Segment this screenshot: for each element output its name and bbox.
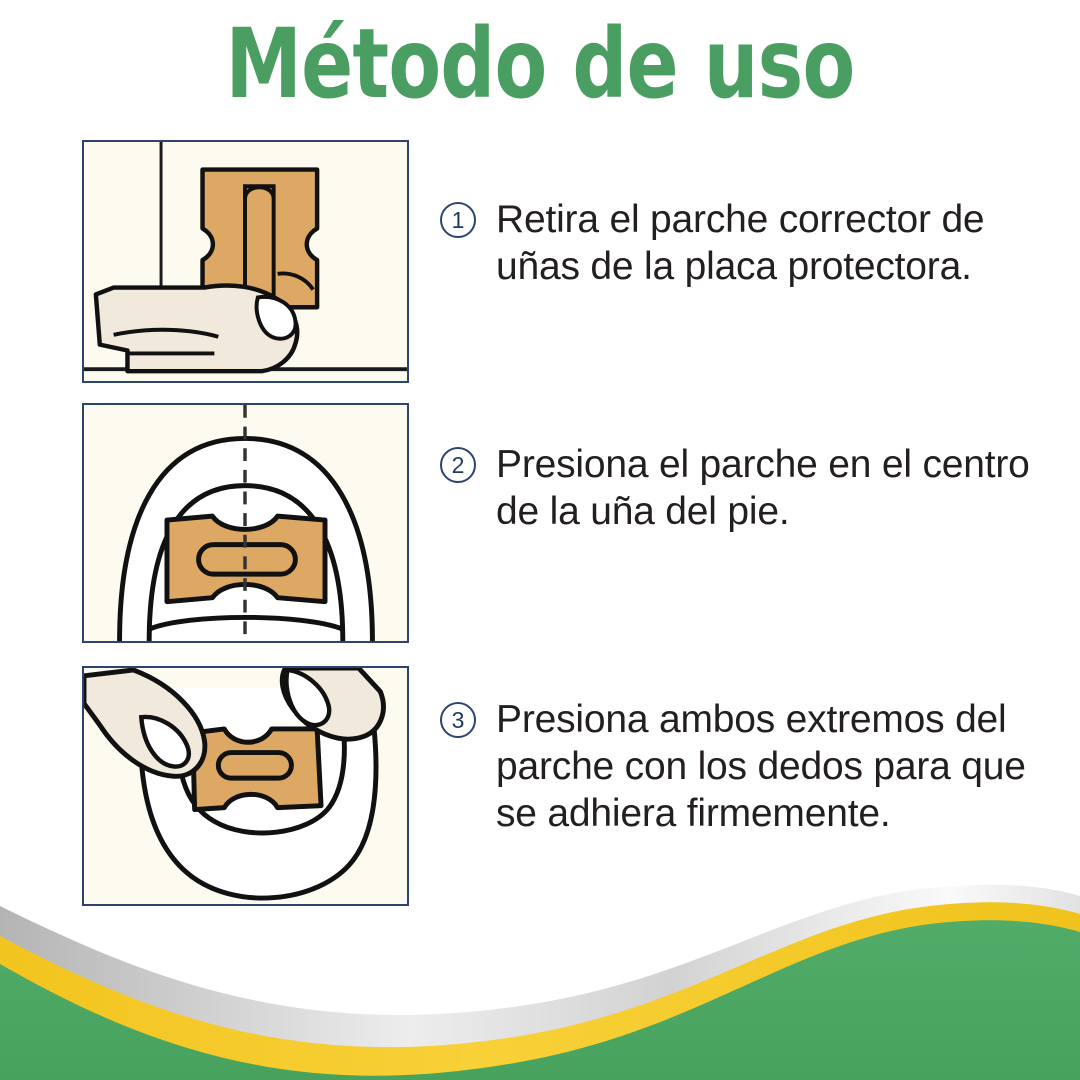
nail-patch-slot xyxy=(199,545,296,575)
figure-center-patch-on-toenail xyxy=(82,403,409,643)
figure-1-illustration xyxy=(84,142,407,381)
step-item-1: 1 Retira el parche corrector de uñas de … xyxy=(440,196,1040,290)
step-text-1: Retira el parche corrector de uñas de la… xyxy=(496,196,1040,290)
step-number-1: 1 xyxy=(440,202,476,238)
page-title: Método de uso xyxy=(108,14,972,114)
nail-patch-slot-top xyxy=(245,187,274,199)
step-text-2: Presiona el parche en el centro de la uñ… xyxy=(496,441,1040,535)
step-number-3: 3 xyxy=(440,702,476,738)
figure-peel-patch-from-backing xyxy=(82,140,409,383)
step-item-2: 2 Presiona el parche en el centro de la … xyxy=(440,441,1040,535)
step-text-3: Presiona ambos extremos del parche con l… xyxy=(496,696,1040,837)
decorative-wave-footer xyxy=(0,840,1080,1080)
nail-patch-slot xyxy=(218,753,291,779)
step-item-3: 3 Presiona ambos extremos del parche con… xyxy=(440,696,1040,837)
wave-footer-svg xyxy=(0,840,1080,1080)
nail-patch-slot xyxy=(245,186,274,299)
step-number-2: 2 xyxy=(440,447,476,483)
figure-2-illustration xyxy=(84,405,407,641)
infographic-root: Método de uso xyxy=(0,0,1080,1080)
